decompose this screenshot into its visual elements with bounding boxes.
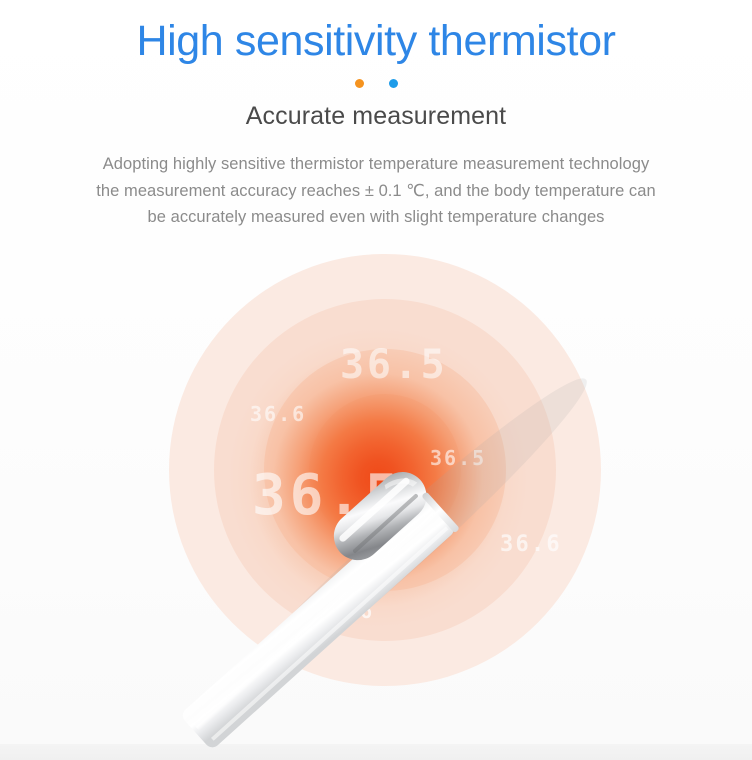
separator-dot-orange bbox=[355, 79, 364, 88]
description-line-1: Adopting highly sensitive thermistor tem… bbox=[0, 151, 752, 178]
temperature-readout-bottom: 36.6 bbox=[318, 601, 374, 621]
temperature-readout-top: 36.5 bbox=[340, 345, 448, 385]
header-block: High sensitivity thermistor Accurate mea… bbox=[0, 0, 752, 231]
separator-dot-blue bbox=[389, 79, 398, 88]
page-subtitle: Accurate measurement bbox=[0, 90, 752, 132]
description-text: Adopting highly sensitive thermistor tem… bbox=[0, 132, 752, 231]
temperature-readout-upper-left: 36.6 bbox=[250, 404, 306, 424]
temperature-readout-primary: 36.5 bbox=[252, 468, 403, 524]
promo-page: 36.5 36.6 36.5 36.5 36.6 36.6 bbox=[0, 0, 752, 760]
description-line-3: be accurately measured even with slight … bbox=[0, 204, 752, 231]
page-title: High sensitivity thermistor bbox=[0, 0, 752, 67]
description-line-2: the measurement accuracy reaches ± 0.1 ℃… bbox=[0, 178, 752, 205]
temperature-readout-mid-right: 36.5 bbox=[430, 448, 486, 468]
temperature-readout-right: 36.6 bbox=[500, 534, 562, 556]
dot-separator bbox=[0, 78, 752, 90]
